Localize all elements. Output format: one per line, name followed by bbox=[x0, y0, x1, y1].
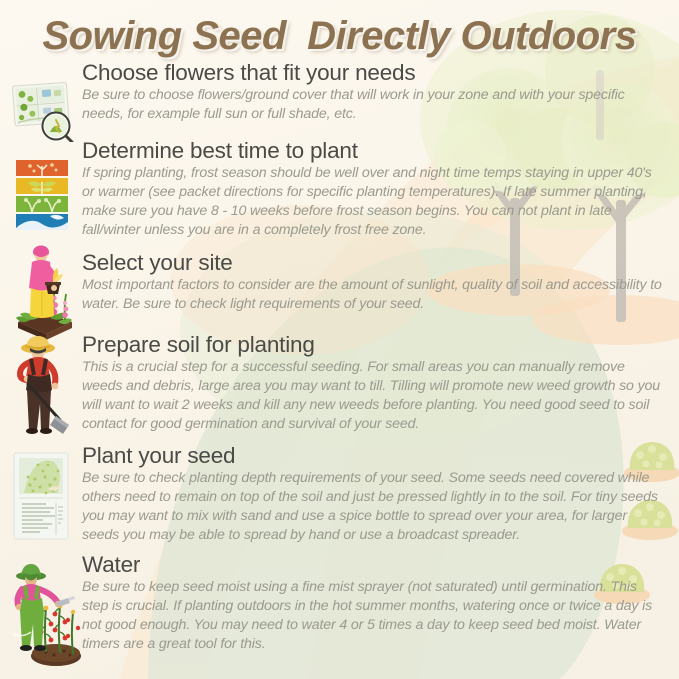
gardener-watering-flowers-icon bbox=[10, 560, 78, 672]
step-heading: Plant your seed bbox=[82, 443, 665, 468]
step-item-select-site: Select your site Most important factors … bbox=[0, 250, 679, 314]
step-body: Be sure to choose flowers/ground cover t… bbox=[82, 86, 665, 124]
step-item-prepare-soil: Prepare soil for planting This is a cruc… bbox=[0, 332, 679, 434]
step-body: If spring planting, frost season should … bbox=[82, 164, 665, 240]
farmer-with-shovel-icon bbox=[10, 334, 78, 438]
step-heading: Prepare soil for planting bbox=[82, 332, 665, 357]
step-item-water: Water Be sure to keep seed moist using a… bbox=[0, 552, 679, 654]
summer-band bbox=[16, 178, 68, 194]
gardener-planting-flowerbed-icon bbox=[10, 244, 78, 340]
spring-band bbox=[16, 196, 68, 212]
step-body: Be sure to keep seed moist using a fine … bbox=[82, 578, 665, 654]
step-heading: Water bbox=[82, 552, 665, 577]
page-title-text: Sowing Seed Directly Outdoors bbox=[43, 14, 637, 59]
page-title: Sowing Seed Directly Outdoors bbox=[0, 14, 679, 59]
step-item-choose-flowers: Choose flowers that fit your needs Be su… bbox=[0, 60, 679, 124]
step-body: This is a crucial step for a successful … bbox=[82, 358, 665, 434]
autumn-band bbox=[16, 160, 68, 176]
step-item-plant-seed: Plant your seed Be sure to check plantin… bbox=[0, 443, 679, 545]
four-seasons-chart-icon bbox=[10, 158, 78, 234]
step-body: Most important factors to consider are t… bbox=[82, 276, 665, 314]
infographic-poster: Sowing Seed Directly Outdoors bbox=[0, 0, 679, 679]
garden-plan-map-icon bbox=[10, 80, 78, 142]
seed-packet-icon bbox=[10, 449, 78, 543]
step-item-determine-time: Determine best time to plant If spring p… bbox=[0, 138, 679, 240]
step-heading: Determine best time to plant bbox=[82, 138, 665, 163]
step-heading: Select your site bbox=[82, 250, 665, 275]
winter-band bbox=[16, 214, 68, 230]
step-heading: Choose flowers that fit your needs bbox=[82, 60, 665, 85]
step-body: Be sure to check planting depth requirem… bbox=[82, 469, 665, 545]
